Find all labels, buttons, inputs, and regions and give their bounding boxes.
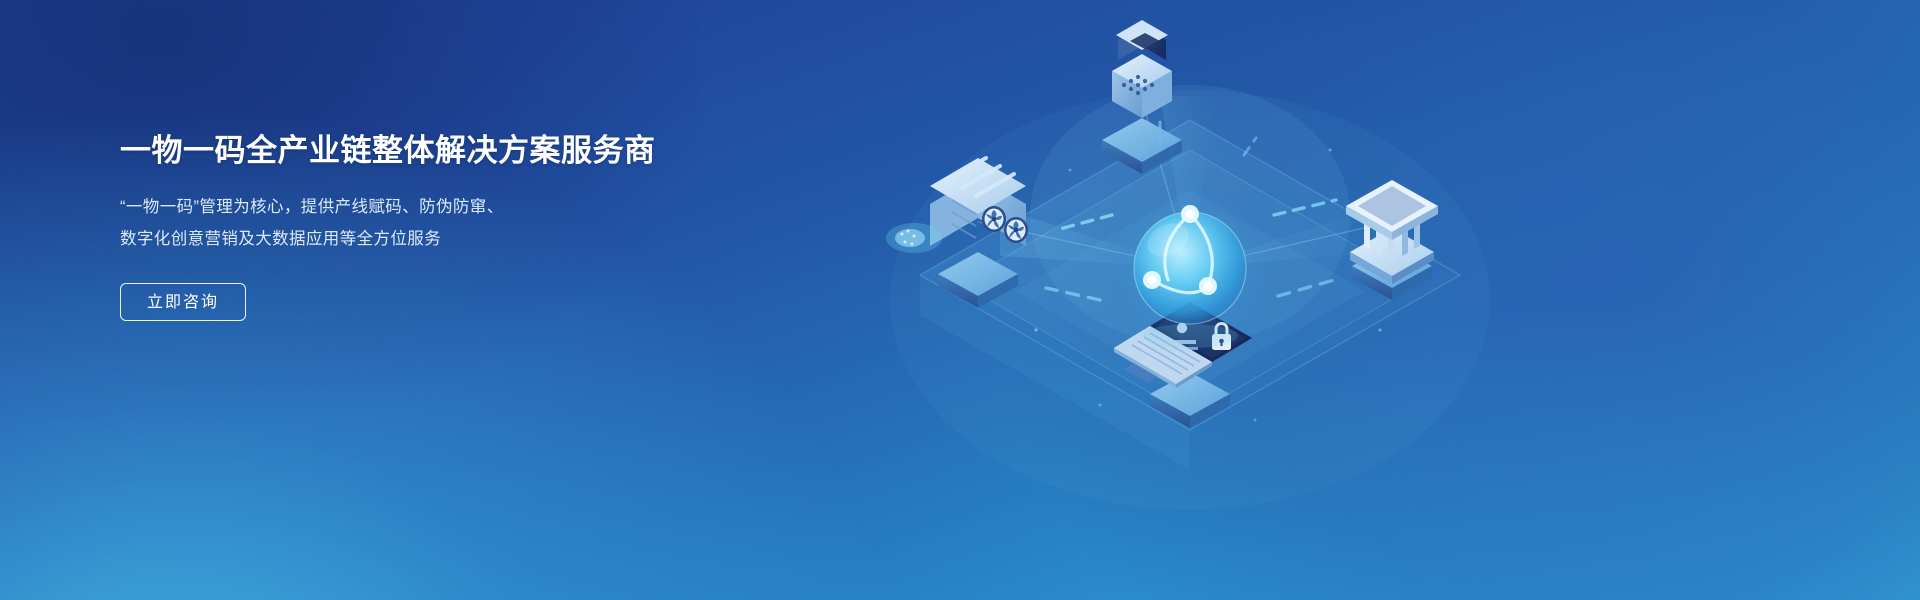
page-title: 一物一码全产业链整体解决方案服务商: [120, 132, 760, 171]
network-sphere: [1104, 182, 1276, 354]
pos-terminal-icon: [1112, 20, 1172, 118]
hero-illustration: [860, 0, 1560, 600]
hero-banner: 一物一码全产业链整体解决方案服务商 “一物一码”管理为核心，提供产线赋码、防伪防…: [0, 0, 1920, 600]
subtitle-line-1: “一物一码”管理为核心，提供产线赋码、防伪防窜、: [120, 191, 760, 223]
device-pos-terminal: [1102, 20, 1182, 174]
isometric-network-graphic: [860, 0, 1560, 600]
subtitle-line-2: 数字化创意营销及大数据应用等全方位服务: [120, 223, 760, 255]
hero-content: 一物一码全产业链整体解决方案服务商 “一物一码”管理为核心，提供产线赋码、防伪防…: [120, 132, 760, 321]
data-capsule-left: [886, 223, 942, 253]
consult-now-button[interactable]: 立即咨询: [120, 283, 246, 321]
